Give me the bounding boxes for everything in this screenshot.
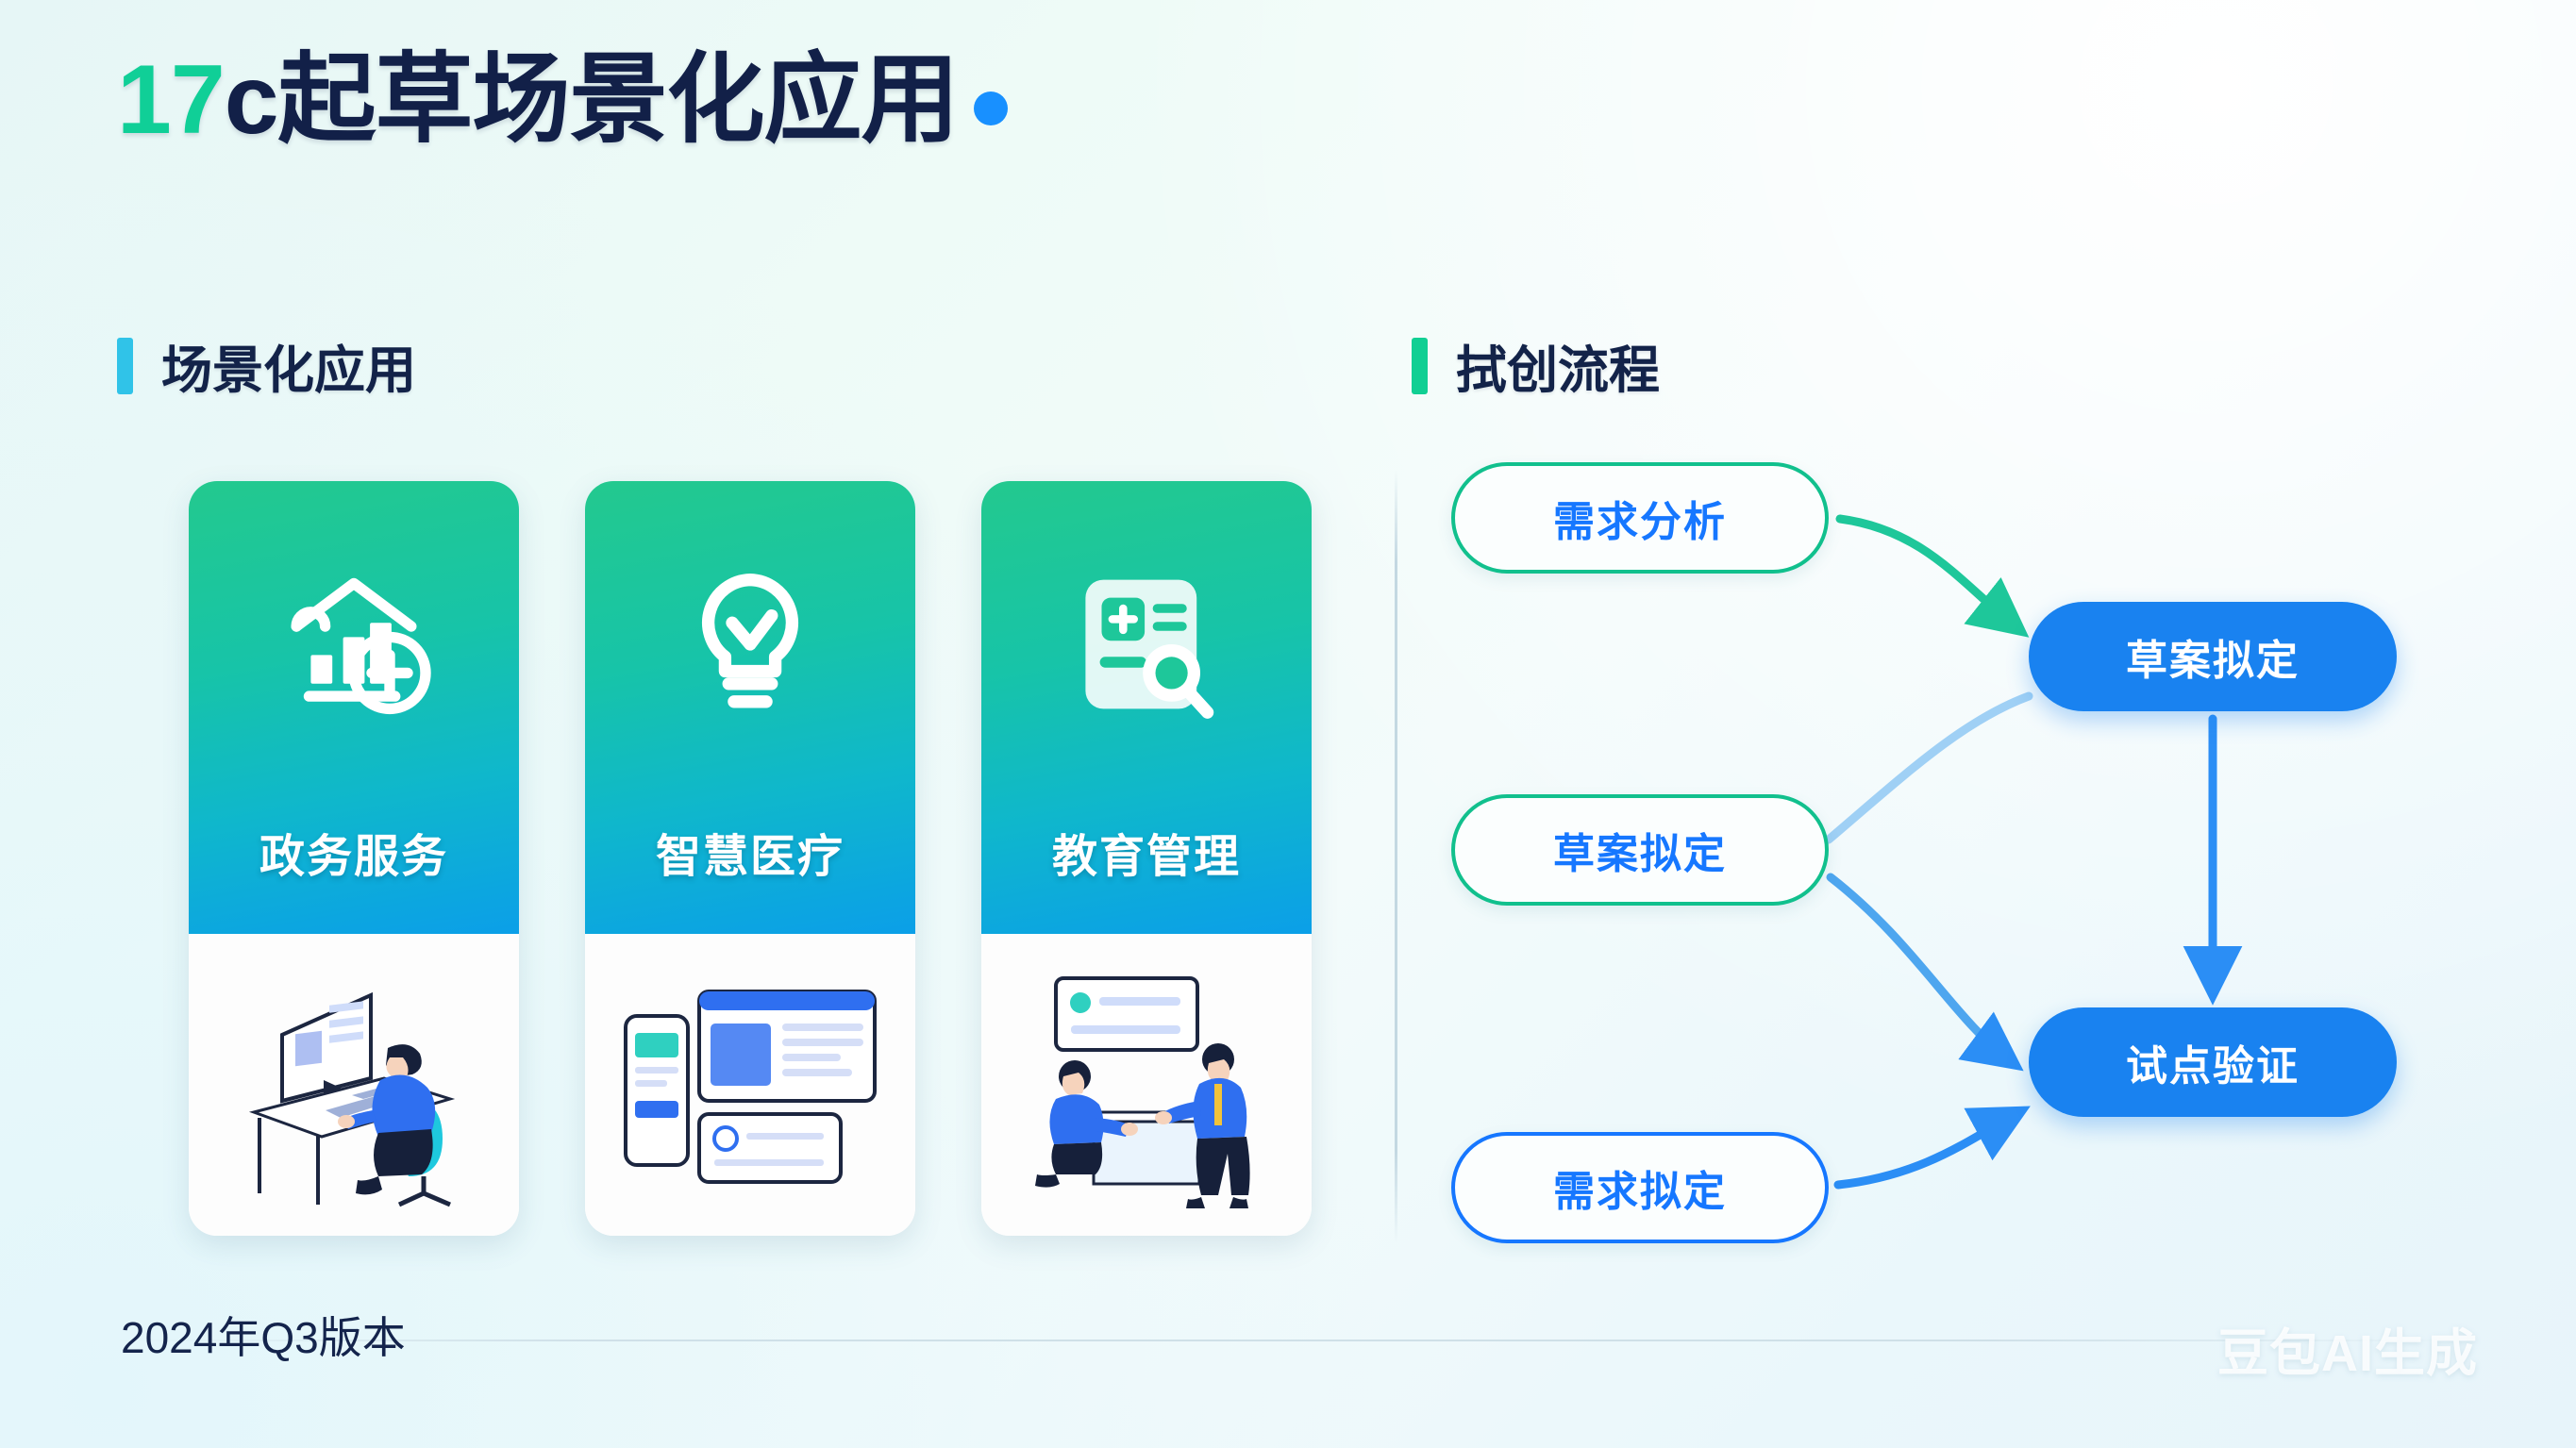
edge-req-draft-to-pilot <box>1838 1113 2017 1185</box>
flow-node-req-analysis-label: 需求分析 <box>1553 488 1727 548</box>
flow-node-draft-outline[interactable]: 草案拟定 <box>1451 794 1829 906</box>
footer-version-text: 2024年Q3版本 <box>121 1304 406 1366</box>
edge-draft-out-to-pilot <box>1831 877 2012 1062</box>
edge-req-analysis-to-draft <box>1840 519 2017 628</box>
card-illustration-area <box>981 934 1312 1236</box>
card-header: 教育管理 <box>981 481 1312 934</box>
house-bar-chart-plus-icon <box>264 555 443 734</box>
scenario-card-government[interactable]: 政务服务 <box>189 481 519 1236</box>
card-illustration-area <box>585 934 915 1236</box>
page-title-block: 17c起草场景化应用 <box>117 45 1008 155</box>
page-title: 17c起草场景化应用 <box>117 45 1008 155</box>
card-illustration-area <box>189 934 519 1236</box>
scenario-card-government-label: 政务服务 <box>189 819 519 885</box>
scenario-card-healthcare[interactable]: 智慧医疗 <box>585 481 915 1236</box>
process-flow-diagram: 需求分析 草案拟定 需求拟定 草案拟定 试点验证 <box>1434 462 2463 1245</box>
accent-bar <box>117 338 133 394</box>
two-people-meeting-illustration <box>1005 957 1288 1212</box>
scenario-card-education[interactable]: 教育管理 <box>981 481 1312 1236</box>
card-header: 政务服务 <box>189 481 519 934</box>
person-at-desk-with-monitor-illustration <box>212 957 495 1212</box>
calculator-document-search-icon <box>1057 555 1236 734</box>
flow-node-req-analysis[interactable]: 需求分析 <box>1451 462 1829 574</box>
flow-node-draft-outline-label: 草案拟定 <box>1553 820 1727 880</box>
edge-draft-out-to-draft-solid <box>1829 696 2029 840</box>
section-header-scenarios: 场景化应用 <box>117 328 416 403</box>
flow-node-pilot-validation-label: 试点验证 <box>2126 1032 2300 1092</box>
section-header-process-label: 拭创流程 <box>1456 328 1660 403</box>
flow-node-pilot-validation[interactable]: 试点验证 <box>2029 1007 2397 1117</box>
dashboard-screens-illustration <box>609 957 892 1212</box>
watermark-text: 豆包AI生成 <box>2217 1311 2478 1386</box>
scenario-card-education-label: 教育管理 <box>981 819 1312 885</box>
footer-divider <box>117 1340 2457 1341</box>
page-title-rest: c起草场景化应用 <box>225 45 959 155</box>
flow-node-draft-solid[interactable]: 草案拟定 <box>2029 602 2397 711</box>
card-header: 智慧医疗 <box>585 481 915 934</box>
accent-bar <box>1412 338 1428 394</box>
lightbulb-check-icon <box>661 555 840 734</box>
flow-node-req-draft[interactable]: 需求拟定 <box>1451 1132 1829 1243</box>
vertical-divider <box>1395 470 1397 1243</box>
title-dot-icon <box>974 92 1008 125</box>
flow-node-req-draft-label: 需求拟定 <box>1553 1157 1727 1218</box>
section-header-scenarios-label: 场景化应用 <box>161 328 416 403</box>
section-header-process: 拭创流程 <box>1412 328 1660 403</box>
page-title-number: 17 <box>117 45 225 155</box>
scenario-card-healthcare-label: 智慧医疗 <box>585 819 915 885</box>
scenario-card-list: 政务服务 <box>189 481 1312 1236</box>
flow-node-draft-solid-label: 草案拟定 <box>2126 626 2300 687</box>
